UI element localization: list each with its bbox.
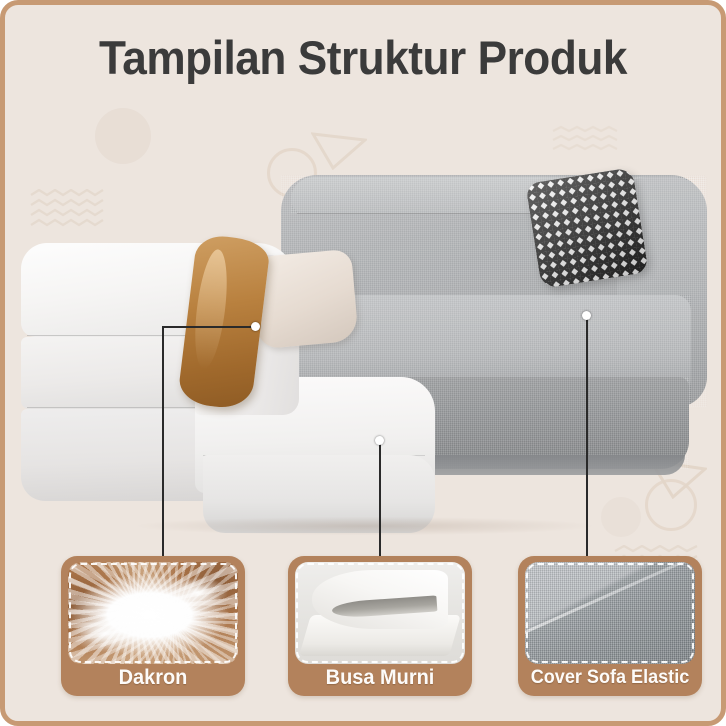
houndstooth-pillow <box>525 167 648 289</box>
foam-mattress-swatch <box>295 562 465 664</box>
grey-fabric-cover-swatch <box>525 562 695 664</box>
sofa-illustration <box>5 155 726 555</box>
callout-dot-cover-sofa-elastic[interactable] <box>582 311 591 320</box>
callout-line-busa-murni <box>379 442 381 556</box>
page-title: Tampilan Struktur Produk <box>26 29 699 87</box>
callout-line-dakron-horizontal <box>162 326 257 328</box>
callout-dot-busa-murni[interactable] <box>375 436 384 445</box>
material-card-label: Dakron <box>66 664 241 692</box>
polyester-fiberfill-swatch <box>68 562 238 664</box>
material-card-label: Cover Sofa Elastic <box>523 664 698 692</box>
material-card-dakron[interactable]: Dakron <box>61 556 245 696</box>
material-card-cover-sofa-elastic[interactable]: Cover Sofa Elastic <box>518 556 702 696</box>
callout-line-dakron-vertical <box>162 326 164 556</box>
callout-dot-dakron[interactable] <box>251 322 260 331</box>
material-card-busa-murni[interactable]: Busa Murni <box>288 556 472 696</box>
callout-line-cover-sofa-elastic <box>586 317 588 556</box>
wavy-lines-watermark <box>551 125 621 155</box>
infographic-frame: Tampilan Struktur Produk <box>0 0 726 726</box>
sofa-ground-shadow <box>45 513 685 539</box>
material-card-label: Busa Murni <box>293 664 468 692</box>
